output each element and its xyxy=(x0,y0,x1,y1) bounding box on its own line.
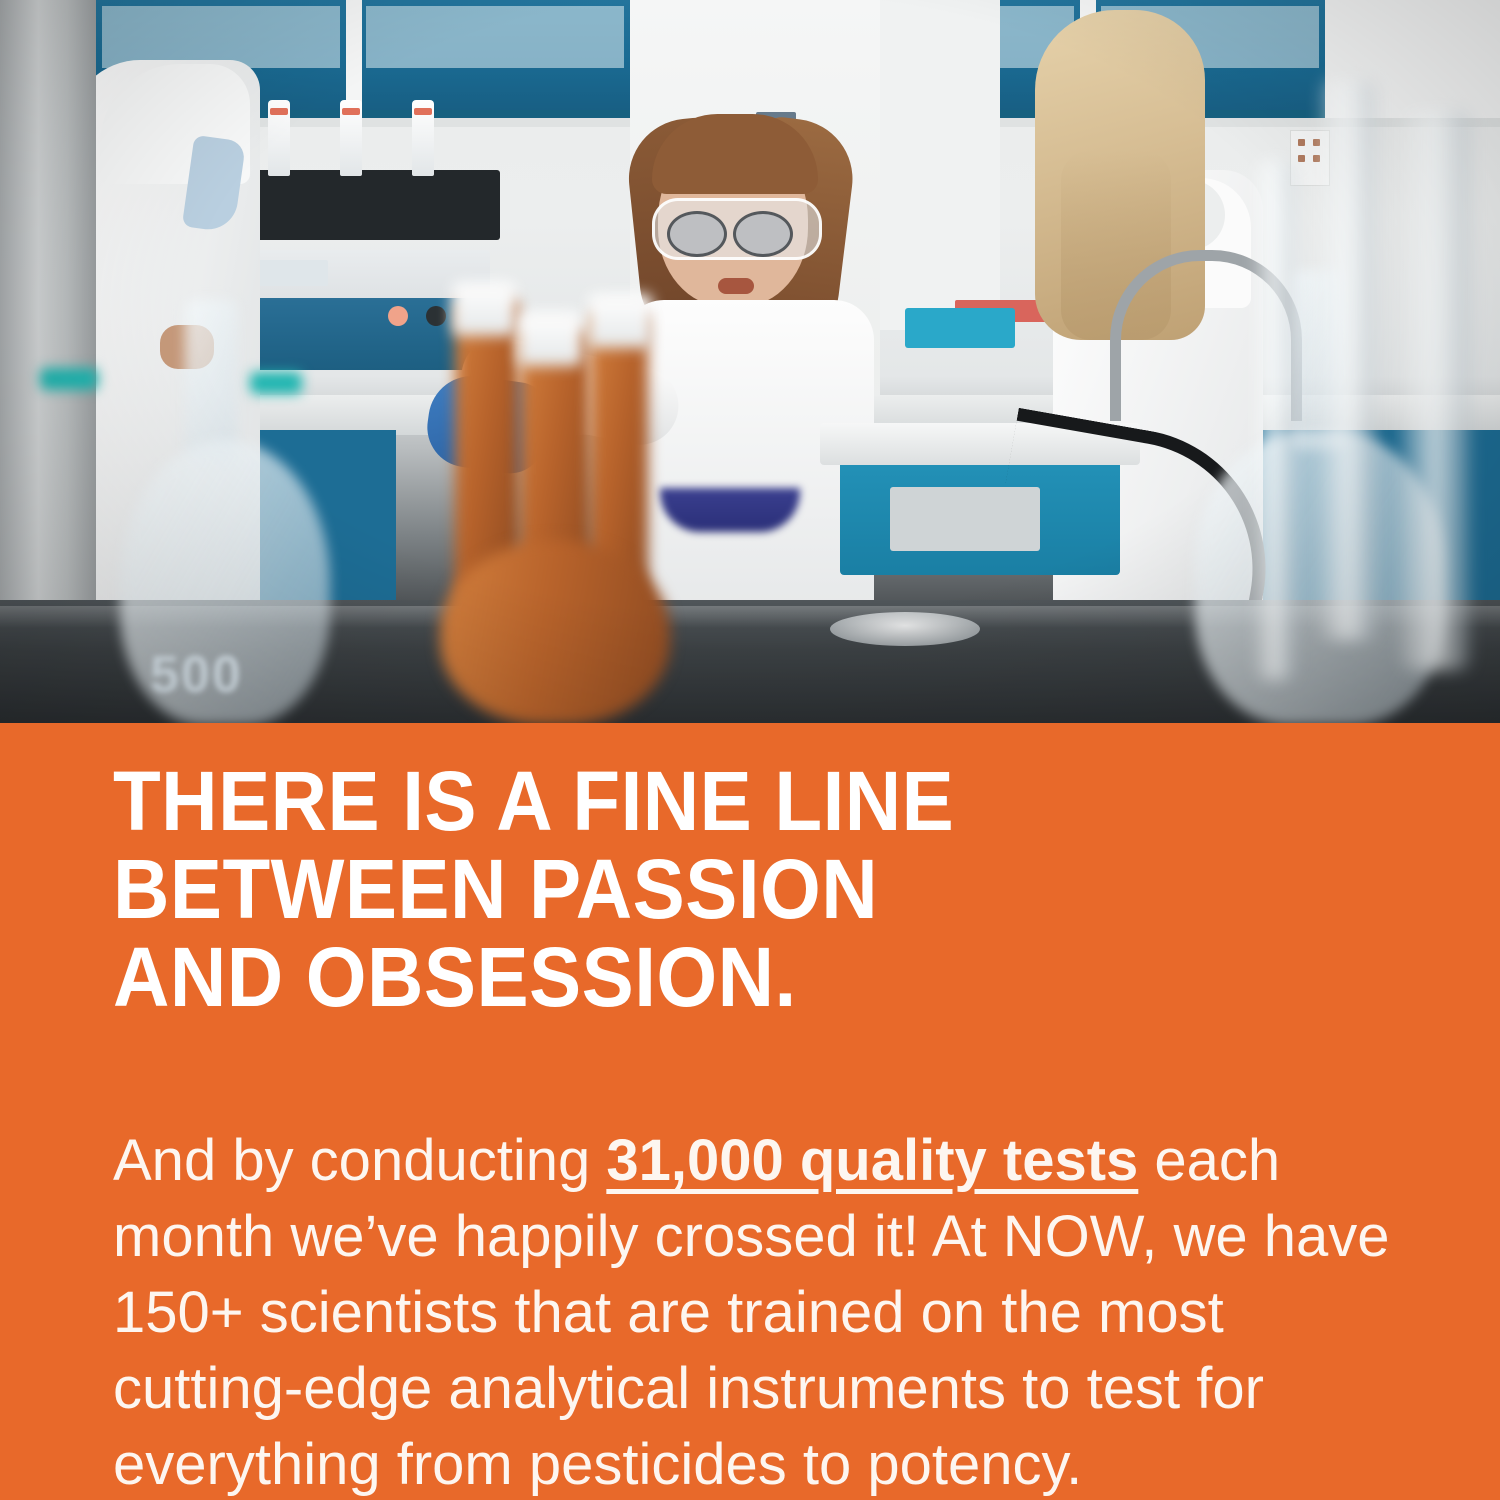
orange-message-panel: THERE IS A FINE LINE BETWEEN PASSION AND… xyxy=(0,723,1500,1500)
body-paragraph: And by conducting 31,000 quality tests e… xyxy=(113,1123,1403,1500)
headline-line-3: AND OBSESSION. xyxy=(113,933,1322,1021)
lab-photo: 500 xyxy=(0,0,1500,723)
body-text-before: And by conducting xyxy=(113,1128,606,1193)
photo-vignette xyxy=(0,0,1500,723)
quality-tests-emphasis: 31,000 quality tests xyxy=(606,1128,1138,1193)
page-title: THERE IS A FINE LINE BETWEEN PASSION AND… xyxy=(113,757,1322,1021)
marketing-poster: 500 THERE IS A FINE LINE BETWEEN PASSION… xyxy=(0,0,1500,1500)
headline-line-1: THERE IS A FINE LINE xyxy=(113,757,1322,845)
headline-line-2: BETWEEN PASSION xyxy=(113,845,1322,933)
